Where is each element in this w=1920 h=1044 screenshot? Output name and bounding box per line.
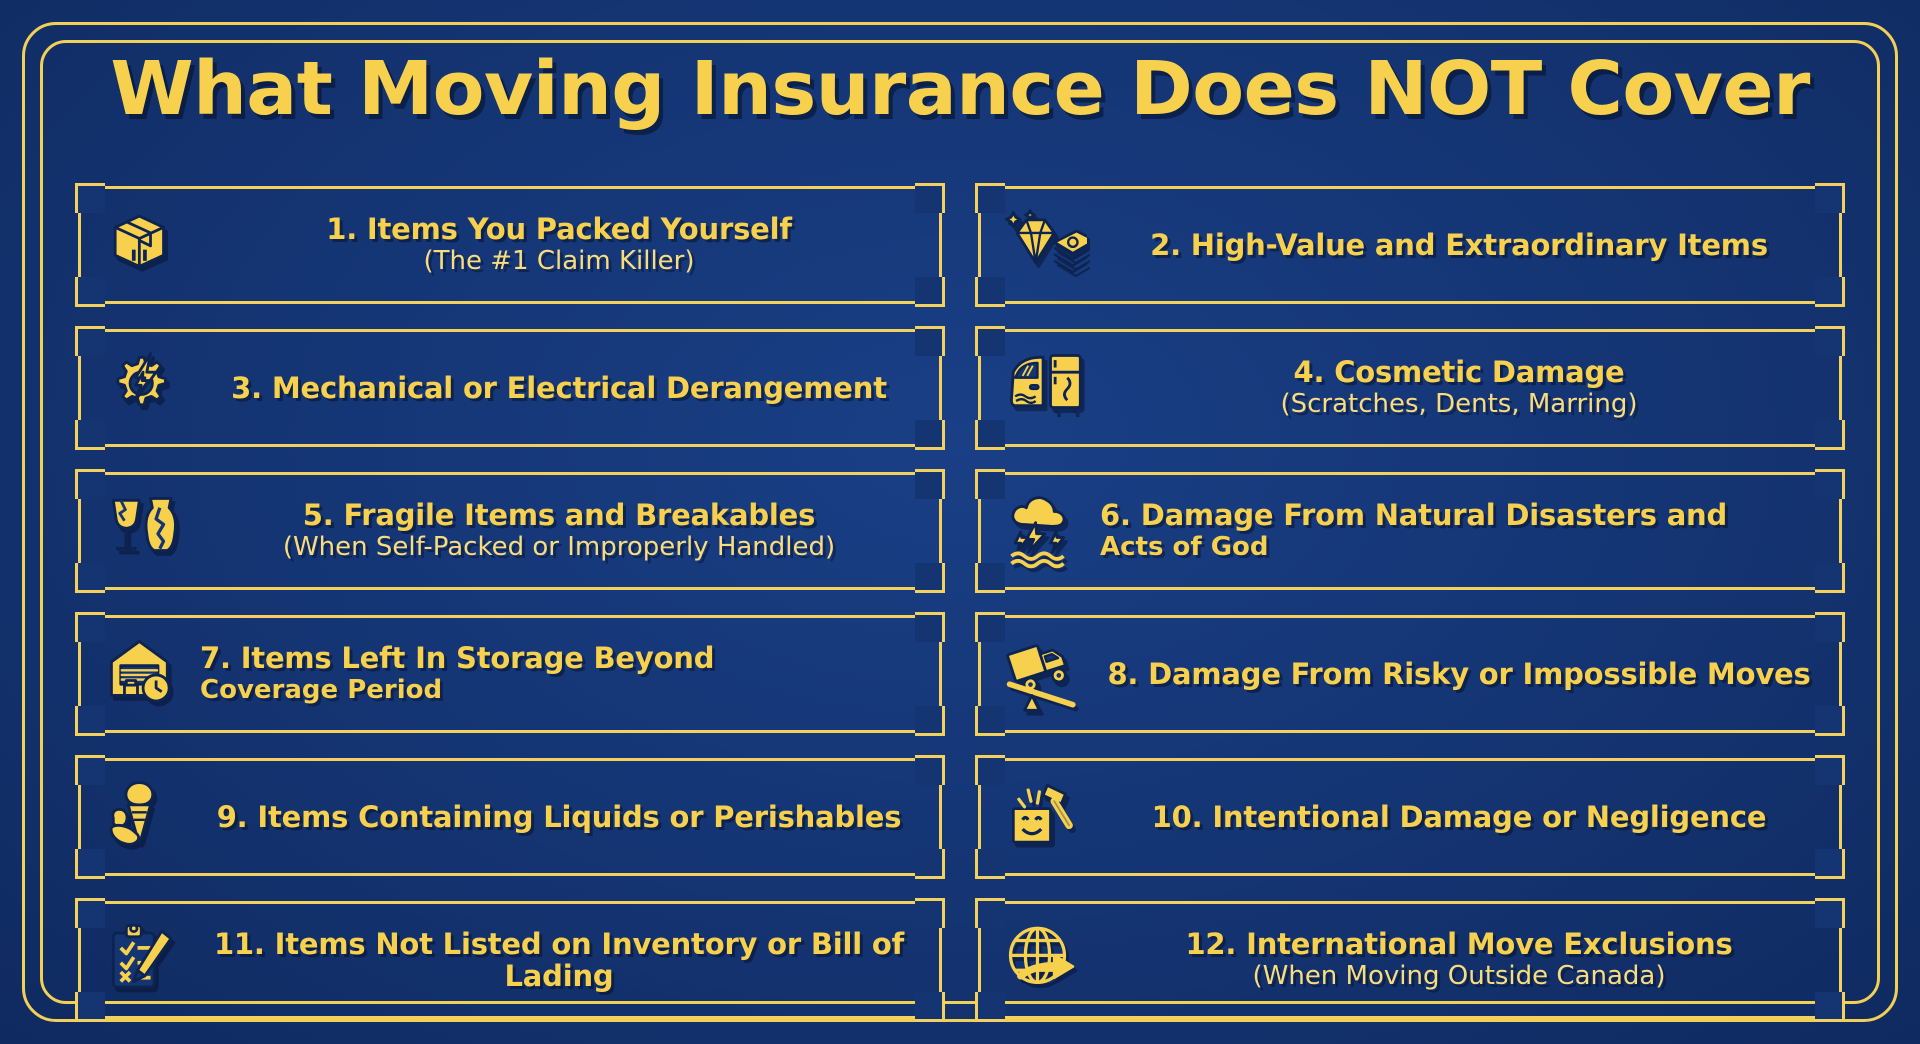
exclusion-title: 9. Items Containing Liquids or Perishabl… [217, 801, 902, 833]
plaque-corner-notch [915, 992, 945, 1022]
plaque-corner-notch [1815, 992, 1845, 1022]
exclusion-labels: 2. High-Value and Extraordinary Items [1100, 229, 1824, 261]
plaque-corner-notch [1815, 898, 1845, 928]
plaque-corner-notch [1815, 183, 1845, 213]
storm-cloud-flood-icon [996, 488, 1092, 574]
hammer-smashing-box-icon [996, 774, 1092, 860]
exclusion-item-3[interactable]: 3. Mechanical or Electrical Derangement [78, 329, 942, 447]
exclusion-item-9[interactable]: 9. Items Containing Liquids or Perishabl… [78, 758, 942, 876]
exclusion-title: 2. High-Value and Extraordinary Items [1150, 229, 1768, 261]
plaque-corner-notch [915, 420, 945, 450]
exclusion-item-2[interactable]: 2. High-Value and Extraordinary Items [978, 186, 1842, 304]
exclusion-title: 10. Intentional Damage or Negligence [1152, 801, 1767, 833]
exclusion-labels: 5. Fragile Items and Breakables(When Sel… [200, 499, 924, 563]
exclusion-subtitle: (The #1 Claim Killer) [423, 247, 694, 277]
plaque-corner-notch [1815, 277, 1845, 307]
broken-glass-and-vase-icon [96, 488, 192, 574]
exclusion-subtitle: (When Self-Packed or Improperly Handled) [283, 533, 835, 563]
storage-unit-clock-icon [96, 631, 192, 717]
car-door-and-fridge-icon [996, 345, 1092, 431]
cardboard-box-icon [96, 202, 192, 288]
exclusion-labels: 6. Damage From Natural Disasters andActs… [1100, 499, 1824, 563]
exclusion-item-4[interactable]: 4. Cosmetic Damage(Scratches, Dents, Mar… [978, 329, 1842, 447]
exclusion-title: 12. International Move Exclusions [1185, 928, 1732, 960]
exclusion-item-11[interactable]: 11. Items Not Listed on Inventory or Bil… [78, 901, 942, 1019]
exclusion-subtitle: Coverage Period [200, 676, 442, 706]
exclusion-labels: 3. Mechanical or Electrical Derangement [200, 372, 924, 404]
page-title: What Moving Insurance Does NOT Cover [110, 52, 1809, 126]
exclusion-title: 8. Damage From Risky or Impossible Moves [1107, 658, 1810, 690]
exclusion-item-6[interactable]: 6. Damage From Natural Disasters andActs… [978, 472, 1842, 590]
exclusion-item-7[interactable]: 7. Items Left In Storage BeyondCoverage … [78, 615, 942, 733]
exclusion-title: 3. Mechanical or Electrical Derangement [231, 372, 887, 404]
plaque-corner-notch [915, 755, 945, 785]
exclusion-title: 5. Fragile Items and Breakables [303, 499, 815, 531]
exclusion-title: 7. Items Left In Storage Beyond [200, 642, 714, 674]
plaque-corner-notch [915, 706, 945, 736]
exclusion-title: 4. Cosmetic Damage [1294, 356, 1625, 388]
exclusion-item-5[interactable]: 5. Fragile Items and Breakables(When Sel… [78, 472, 942, 590]
diamond-and-cash-icon [996, 202, 1092, 288]
plaque-corner-notch [1815, 612, 1845, 642]
exclusion-labels: 8. Damage From Risky or Impossible Moves [1100, 658, 1824, 690]
plaque-corner-notch [1815, 706, 1845, 736]
plaque-corner-notch [915, 849, 945, 879]
plaque-corner-notch [915, 326, 945, 356]
plaque-corner-notch [915, 277, 945, 307]
exclusion-title: 6. Damage From Natural Disasters and [1100, 499, 1727, 531]
exclusion-subtitle: (Scratches, Dents, Marring) [1280, 390, 1637, 420]
clipboard-checklist-pencil-icon [96, 917, 192, 1003]
exclusion-labels: 7. Items Left In Storage BeyondCoverage … [200, 642, 924, 706]
exclusion-item-12[interactable]: 12. International Move Exclusions(When M… [978, 901, 1842, 1019]
exclusion-item-1[interactable]: 1. Items You Packed Yourself(The #1 Clai… [78, 186, 942, 304]
globe-arrow-icon [996, 917, 1092, 1003]
exclusion-labels: 10. Intentional Damage or Negligence [1100, 801, 1824, 833]
plaque-corner-notch [915, 469, 945, 499]
plaque-corner-notch [1815, 420, 1845, 450]
plaque-corner-notch [1815, 755, 1845, 785]
exclusion-title: 11. Items Not Listed on Inventory or Bil… [200, 928, 918, 993]
exclusion-labels: 9. Items Containing Liquids or Perishabl… [200, 801, 924, 833]
plaque-corner-notch [1815, 563, 1845, 593]
exclusion-item-8[interactable]: 8. Damage From Risky or Impossible Moves [978, 615, 1842, 733]
exclusion-labels: 1. Items You Packed Yourself(The #1 Clai… [200, 213, 924, 277]
exclusion-title: 1. Items You Packed Yourself [326, 213, 792, 245]
exclusion-subtitle: (When Moving Outside Canada) [1252, 962, 1665, 992]
tilting-truck-icon [996, 631, 1092, 717]
infographic-poster: What Moving Insurance Does NOT Cover 1. … [0, 0, 1920, 1044]
plaque-corner-notch [915, 563, 945, 593]
plaque-corner-notch [915, 612, 945, 642]
gear-lightning-icon [96, 345, 192, 431]
melting-ice-cream-icon [96, 774, 192, 860]
plaque-corner-notch [1815, 849, 1845, 879]
exclusion-subtitle: Acts of God [1100, 533, 1269, 563]
plaque-corner-notch [915, 898, 945, 928]
exclusion-labels: 4. Cosmetic Damage(Scratches, Dents, Mar… [1100, 356, 1824, 420]
exclusions-grid: 1. Items You Packed Yourself(The #1 Clai… [78, 186, 1842, 1036]
exclusion-labels: 11. Items Not Listed on Inventory or Bil… [200, 928, 924, 993]
exclusion-labels: 12. International Move Exclusions(When M… [1100, 928, 1824, 992]
plaque-corner-notch [1815, 469, 1845, 499]
plaque-corner-notch [1815, 326, 1845, 356]
plaque-corner-notch [915, 183, 945, 213]
title-container: What Moving Insurance Does NOT Cover [0, 52, 1920, 126]
exclusion-item-10[interactable]: 10. Intentional Damage or Negligence [978, 758, 1842, 876]
